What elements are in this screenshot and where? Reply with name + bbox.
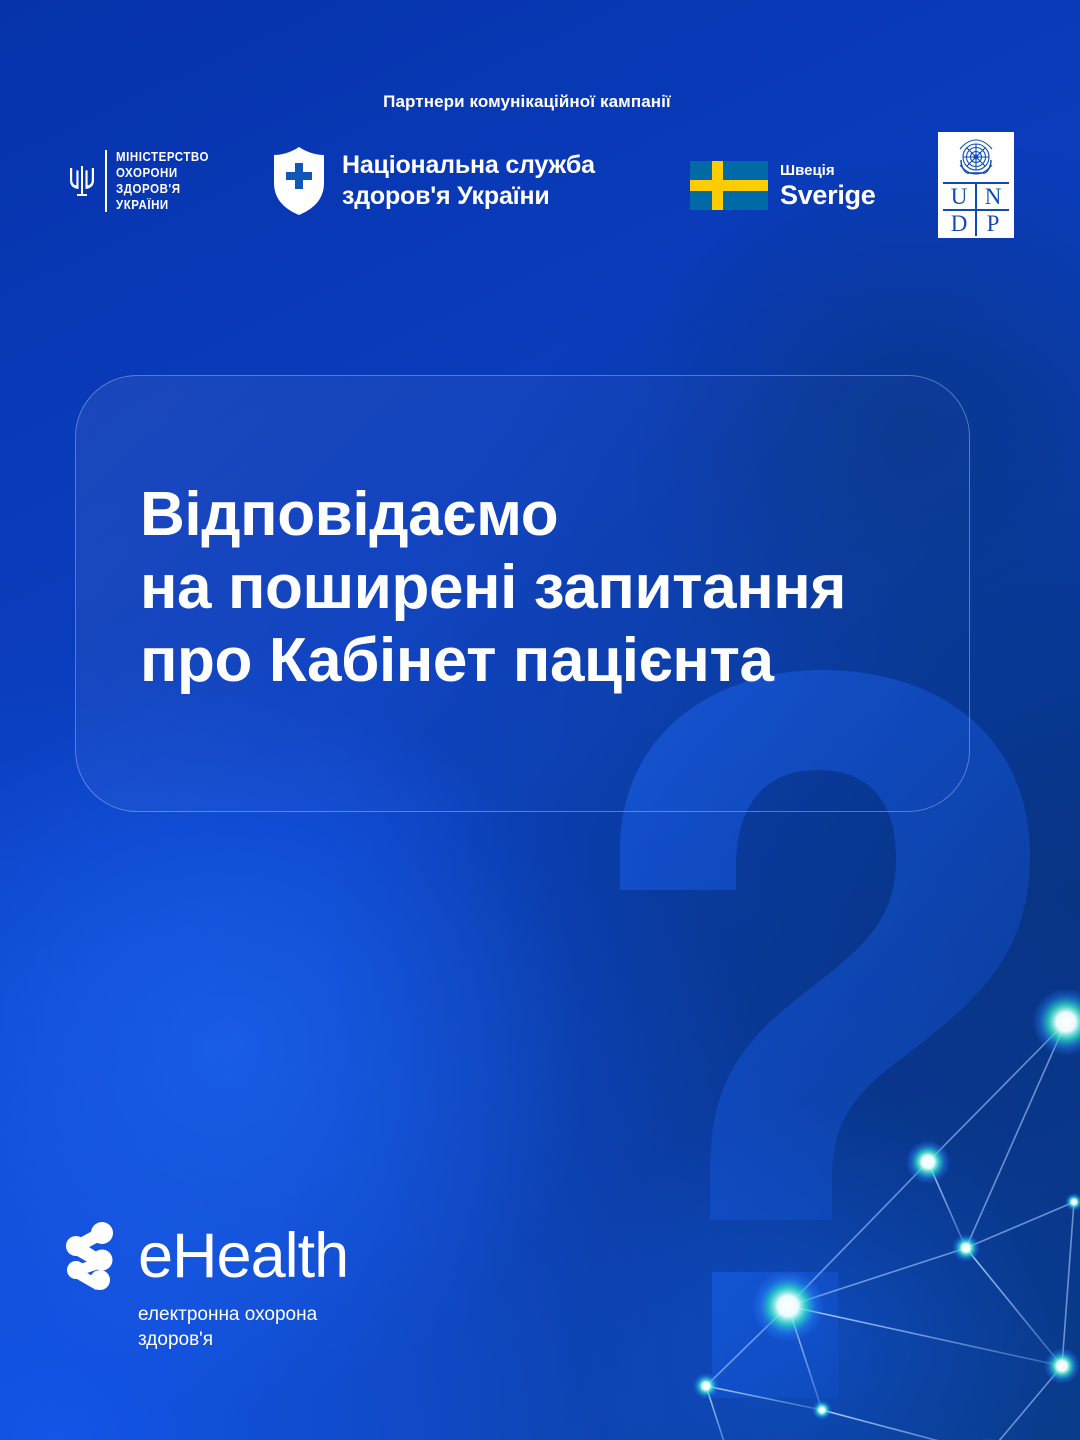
sweden-name-sv: Sverige [780, 182, 875, 209]
undp-letter-u: U [943, 184, 975, 209]
undp-letter-n: N [977, 184, 1009, 209]
network-constellation-icon [670, 990, 1080, 1440]
ehealth-logo: eHealth електронна охорона здоров'я [62, 1222, 348, 1352]
undp-letter-p: P [977, 211, 1009, 236]
partner-logo-sweden: Швеція Sverige [690, 161, 875, 210]
partners-label: Партнери комунікаційної кампанії [0, 92, 1080, 112]
moh-wordmark: МІНІСТЕРСТВО ОХОРОНИ ЗДОРОВ'Я УКРАЇНИ [116, 150, 217, 212]
ehealth-tagline-line-2: здоров'я [138, 1327, 348, 1352]
sweden-flag-icon [690, 161, 768, 210]
sweden-wordmark: Швеція Sverige [780, 163, 875, 209]
ehealth-nodes-icon [62, 1222, 118, 1290]
moh-line-2: ОХОРОНИ [116, 166, 209, 180]
moh-line-3: ЗДОРОВ'Я [116, 182, 209, 196]
nhsu-line-1: Національна служба [342, 150, 595, 181]
partner-logo-moh: МІНІСТЕРСТВО ОХОРОНИ ЗДОРОВ'Я УКРАЇНИ [68, 150, 217, 212]
partner-logo-row: МІНІСТЕРСТВО ОХОРОНИ ЗДОРОВ'Я УКРАЇНИ На… [0, 134, 1080, 250]
headline-line-2: на поширені запитання [140, 551, 970, 624]
un-emblem-icon [954, 137, 998, 181]
nhsu-line-2: здоров'я України [342, 181, 595, 212]
undp-letter-d: D [943, 211, 975, 236]
nhsu-wordmark: Національна служба здоров'я України [342, 150, 595, 212]
partner-logo-undp: U N D P [938, 132, 1014, 238]
poster-canvas: Партнери комунікаційної кампанії МІНІСТЕ… [0, 0, 1080, 1440]
ehealth-tagline: електронна охорона здоров'я [138, 1302, 348, 1352]
partner-logo-nhsu: Національна служба здоров'я України [272, 146, 595, 216]
headline-line-3: про Кабінет пацієнта [140, 624, 970, 697]
ukraine-trident-icon [68, 164, 96, 198]
ehealth-tagline-line-1: електронна охорона [138, 1302, 348, 1327]
undp-letter-grid: U N D P [943, 182, 1009, 236]
moh-divider [105, 150, 107, 212]
moh-line-4: УКРАЇНИ [116, 198, 209, 212]
headline-line-1: Відповідаємо [140, 478, 970, 551]
moh-line-1: МІНІСТЕРСТВО [116, 150, 209, 164]
sweden-name-uk: Швеція [780, 163, 875, 178]
page-title: Відповідаємо на поширені запитання про К… [140, 478, 970, 697]
shield-cross-icon [272, 146, 326, 216]
ehealth-wordmark: eHealth [138, 1224, 348, 1288]
